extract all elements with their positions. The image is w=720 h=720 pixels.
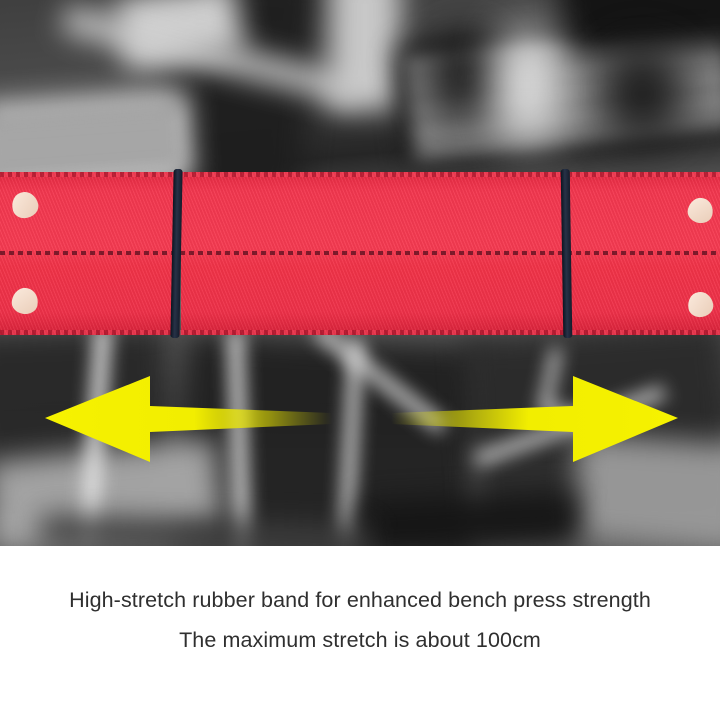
arrow-left-icon <box>45 376 332 462</box>
caption-line-1: High-stretch rubber band for enhanced be… <box>69 580 651 620</box>
band-edge-top <box>0 172 720 177</box>
arrow-right-icon <box>391 376 678 462</box>
background-highlight <box>498 30 558 140</box>
product-photo <box>0 0 720 546</box>
stretch-arrows <box>0 370 720 470</box>
product-image-card: High-stretch rubber band for enhanced be… <box>0 0 720 720</box>
caption-block: High-stretch rubber band for enhanced be… <box>0 546 720 720</box>
resistance-band <box>0 172 720 335</box>
caption-line-2: The maximum stretch is about 100cm <box>179 620 541 660</box>
background-equipment-a <box>430 34 500 119</box>
background-equipment-b <box>600 46 685 141</box>
background-column <box>330 0 400 110</box>
band-edge-bottom <box>0 330 720 335</box>
band-stitch-line <box>0 251 720 255</box>
